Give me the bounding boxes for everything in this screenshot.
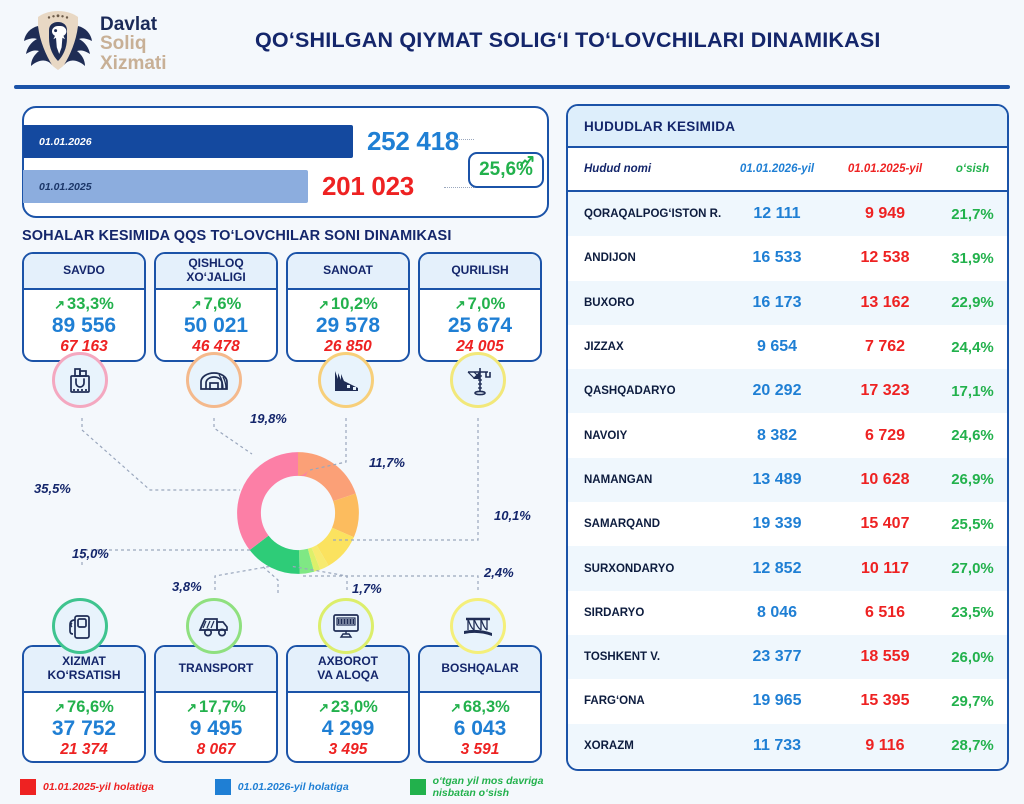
regions-table-body: QORAQALPOG‘ISTON R.12 1119 94921,7%ANDIJ… — [568, 192, 1007, 771]
sector-value-2026: 25 674 — [420, 314, 540, 338]
sector-growth: ↗33,3% — [24, 295, 144, 314]
legend-swatch-blue — [215, 779, 231, 795]
table-row[interactable]: SURXONDARYO12 85210 11727,0% — [568, 546, 1007, 590]
cell-2026: 16 533 — [723, 249, 831, 267]
shopping-bag-icon — [64, 364, 96, 396]
cell-2025: 15 395 — [831, 692, 939, 710]
sector-name: TRANSPORT — [179, 662, 254, 676]
cell-growth: 24,6% — [939, 427, 1006, 444]
legend-item-2025: 01.01.2025-yil holatiga — [20, 779, 215, 795]
donut-label-qishloq: 19,8% — [250, 411, 287, 426]
sector-icon-bubble-axborot — [318, 598, 374, 654]
bar-2026: 01.01.2026 — [23, 125, 353, 158]
donut-label-axborot: 1,7% — [352, 581, 382, 596]
cell-2025: 10 628 — [831, 471, 939, 489]
donut-label-transport: 3,8% — [172, 579, 202, 594]
bar-2026-value: 252 418 — [367, 126, 459, 157]
table-row[interactable]: QORAQALPOG‘ISTON R.12 1119 94921,7% — [568, 192, 1007, 236]
table-row[interactable]: XORAZM11 7339 11628,7% — [568, 724, 1007, 768]
cell-2025: 6 729 — [831, 427, 939, 445]
cell-region: FARG‘ONA — [568, 695, 723, 707]
regions-table-panel: HUDUDLAR KESIMIDA Hudud nomi 01.01.2026-… — [566, 104, 1009, 771]
cell-growth: 27,0% — [939, 560, 1006, 577]
cell-region: NAVOIY — [568, 430, 723, 442]
sector-card-body: ↗17,7% 9 495 8 067 — [156, 693, 276, 765]
logo-line-1: Davlat — [100, 15, 167, 34]
sector-name: SAVDO — [63, 264, 105, 278]
sector-value-2025: 21 374 — [24, 741, 144, 760]
cell-region: QASHQADARYO — [568, 385, 723, 397]
sector-growth: ↗76,6% — [24, 698, 144, 717]
cell-growth: 26,9% — [939, 471, 1006, 488]
sector-card-axborot-va-aloqa[interactable]: AXBOROT VA ALOQA ↗23,0% 4 299 3 495 — [286, 645, 410, 763]
sector-card-sanoat[interactable]: SANOAT ↗10,2% 29 578 26 850 — [286, 252, 410, 362]
sector-card-header: QURILISH — [420, 254, 540, 290]
fuel-pump-icon — [65, 610, 95, 642]
sectors-heading: SOHALAR KESIMIDA QQS TO‘LOVCHILAR SONI D… — [22, 228, 451, 244]
sector-card-xizmat-korsatish[interactable]: XIZMAT KO‘RSATISH ↗76,6% 37 752 21 374 — [22, 645, 146, 763]
donut-label-sanoat: 11,7% — [369, 455, 405, 470]
monitor-icon — [330, 611, 362, 641]
cell-2025: 9 949 — [831, 205, 939, 223]
connector-line-bottom — [444, 187, 474, 188]
cell-2026: 20 292 — [723, 382, 831, 400]
sector-value-2025: 3 591 — [420, 741, 540, 760]
sector-growth: ↗17,7% — [156, 698, 276, 717]
cell-2026: 8 382 — [723, 427, 831, 445]
sector-growth: ↗68,3% — [420, 698, 540, 717]
sector-icon-bubble-qishloq — [186, 352, 242, 408]
cell-2026: 12 852 — [723, 560, 831, 578]
cell-growth: 17,1% — [939, 383, 1006, 400]
header-divider — [14, 85, 1010, 89]
sector-value-2026: 29 578 — [288, 314, 408, 338]
legend-swatch-green — [410, 779, 426, 795]
table-row[interactable]: NAVOIY8 3826 72924,6% — [568, 413, 1007, 457]
page-title: QO‘SHILGAN QIYMAT SOLIG‘I TO‘LOVCHILARI … — [255, 28, 995, 53]
bar-2025-value: 201 023 — [322, 171, 414, 202]
cell-2026: 19 339 — [723, 515, 831, 533]
regions-table-title-text: HUDUDLAR KESIMIDA — [584, 119, 735, 134]
legend-label-2026: 01.01.2026-yil holatiga — [238, 781, 349, 793]
sector-name: QURILISH — [451, 264, 508, 278]
cell-2026: 8 046 — [723, 604, 831, 622]
sector-name: BOSHQALAR — [441, 662, 518, 676]
table-column-header-row: Hudud nomi 01.01.2026-yil 01.01.2025-yil… — [568, 148, 1007, 192]
sector-icon-bubble-transport — [186, 598, 242, 654]
cell-growth: 24,4% — [939, 339, 1006, 356]
cell-growth: 31,9% — [939, 250, 1006, 267]
sector-value-2025: 8 067 — [156, 741, 276, 760]
warehouse-icon — [197, 365, 231, 395]
cell-2025: 13 162 — [831, 294, 939, 312]
legend: 01.01.2025-yil holatiga 01.01.2026-yil h… — [20, 773, 580, 801]
sector-value-2026: 37 752 — [24, 717, 144, 741]
cell-region: TOSHKENT V. — [568, 651, 723, 663]
table-row[interactable]: JIZZAX9 6547 76224,4% — [568, 325, 1007, 369]
logo: Davlat Soliq Xizmati — [22, 6, 202, 80]
cell-growth: 29,7% — [939, 693, 1006, 710]
legend-label-growth: o‘tgan yil mos davriga nisbatan o‘sish — [433, 775, 544, 800]
bar-2026-label: 01.01.2026 — [23, 136, 92, 148]
sector-card-header: QISHLOQ XO‘JALIGI — [156, 254, 276, 290]
cell-2026: 16 173 — [723, 294, 831, 312]
sector-card-boshqalar[interactable]: BOSHQALAR ↗68,3% 6 043 3 591 — [418, 645, 542, 763]
table-row[interactable]: QASHQADARYO20 29217 32317,1% — [568, 369, 1007, 413]
sector-name: SANOAT — [323, 264, 373, 278]
cell-2025: 12 538 — [831, 249, 939, 267]
bar-2025: 01.01.2025 — [23, 170, 308, 203]
donut-label-savdo: 35,5% — [34, 481, 71, 496]
legend-item-growth: o‘tgan yil mos davriga nisbatan o‘sish — [410, 775, 580, 800]
cell-region: SURXONDARYO — [568, 563, 723, 575]
sector-card-savdo[interactable]: SAVDO ↗33,3% 89 556 67 163 — [22, 252, 146, 362]
table-row[interactable]: SIRDARYO8 0466 51623,5% — [568, 591, 1007, 635]
cell-growth: 22,9% — [939, 294, 1006, 311]
cell-2026: 19 965 — [723, 692, 831, 710]
legend-item-2026: 01.01.2026-yil holatiga — [215, 779, 410, 795]
cell-growth: 23,5% — [939, 604, 1006, 621]
sector-card-body: ↗76,6% 37 752 21 374 — [24, 693, 144, 765]
cell-region: JIZZAX — [568, 341, 723, 353]
cell-region: SAMARQAND — [568, 518, 723, 530]
legend-label-2025: 01.01.2025-yil holatiga — [43, 781, 154, 793]
cell-growth: 28,7% — [939, 737, 1006, 754]
sector-card-body: ↗33,3% 89 556 67 163 — [24, 290, 144, 362]
regions-table-title: HUDUDLAR KESIMIDA — [568, 106, 1007, 148]
cell-2025: 17 323 — [831, 382, 939, 400]
donut-svg — [228, 443, 368, 583]
cell-growth: 26,0% — [939, 649, 1006, 666]
cell-2026: 23 377 — [723, 648, 831, 666]
col-header-region: Hudud nomi — [568, 163, 723, 175]
sector-value-2025: 3 495 — [288, 741, 408, 760]
col-header-growth: o‘sish — [939, 163, 1006, 175]
factory-icon — [330, 365, 362, 395]
logo-line-2: Soliq — [100, 34, 167, 53]
cell-2025: 7 762 — [831, 338, 939, 356]
sector-icon-bubble-qurilish — [450, 352, 506, 408]
sector-growth: ↗7,6% — [156, 295, 276, 314]
sector-growth: ↗23,0% — [288, 698, 408, 717]
infographic-page: Davlat Soliq Xizmati QO‘SHILGAN QIYMAT S… — [0, 0, 1024, 804]
sector-icon-bubble-xizmat — [52, 598, 108, 654]
cell-growth: 25,5% — [939, 516, 1006, 533]
sector-icon-bubble-boshqalar — [450, 598, 506, 654]
cell-region: BUXORO — [568, 297, 723, 309]
sector-card-body: ↗68,3% 6 043 3 591 — [420, 693, 540, 765]
sector-value-2026: 50 021 — [156, 314, 276, 338]
cell-2026: 12 111 — [723, 205, 831, 223]
cell-2025: 15 407 — [831, 515, 939, 533]
sector-share-donut-chart — [228, 443, 368, 583]
table-row[interactable]: ANDIJON16 53312 53831,9% — [568, 236, 1007, 280]
donut-label-qurilish: 10,1% — [494, 508, 531, 523]
table-row[interactable]: FARG‘ONA19 96515 39529,7% — [568, 679, 1007, 723]
sector-card-header: SAVDO — [24, 254, 144, 290]
connector-line-top — [448, 139, 474, 140]
bar-2025-label: 01.01.2025 — [23, 181, 92, 193]
table-row[interactable]: TOSHKENT SH.60 47247 82226,5% — [568, 768, 1007, 771]
eagle-emblem-icon — [22, 8, 94, 78]
cell-2025: 6 516 — [831, 604, 939, 622]
col-header-2026: 01.01.2026-yil — [723, 163, 831, 175]
cell-region: SIRDARYO — [568, 607, 723, 619]
table-row[interactable]: NAMANGAN13 48910 62826,9% — [568, 458, 1007, 502]
sector-name: QISHLOQ XO‘JALIGI — [186, 257, 245, 285]
summary-bar-card: 01.01.2026 252 418 01.01.2025 201 023 25… — [22, 106, 549, 218]
cell-growth: 21,7% — [939, 206, 1006, 223]
col-header-2025: 01.01.2025-yil — [831, 163, 939, 175]
table-row[interactable]: SAMARQAND19 33915 40725,5% — [568, 502, 1007, 546]
sector-value-2026: 89 556 — [24, 314, 144, 338]
crane-icon — [462, 364, 494, 396]
cell-2026: 9 654 — [723, 338, 831, 356]
cell-2025: 9 116 — [831, 737, 939, 755]
sector-card-transport[interactable]: TRANSPORT ↗17,7% 9 495 8 067 — [154, 645, 278, 763]
sector-card-header: SANOAT — [288, 254, 408, 290]
cell-2025: 18 559 — [831, 648, 939, 666]
sector-icon-bubble-sanoat — [318, 352, 374, 408]
cell-region: ANDIJON — [568, 252, 723, 264]
cell-2026: 11 733 — [723, 737, 831, 755]
sector-growth: ↗7,0% — [420, 295, 540, 314]
cell-2025: 10 117 — [831, 560, 939, 578]
truck-icon — [197, 613, 231, 639]
table-row[interactable]: TOSHKENT V.23 37718 55926,0% — [568, 635, 1007, 679]
sector-card-qurilish[interactable]: QURILISH ↗7,0% 25 674 24 005 — [418, 252, 542, 362]
cell-region: QORAQALPOG‘ISTON R. — [568, 208, 723, 220]
donut-label-xizmat: 15,0% — [72, 546, 109, 561]
trend-up-arrow-icon — [520, 155, 534, 167]
cell-region: XORAZM — [568, 740, 723, 752]
sector-name: XIZMAT KO‘RSATISH — [47, 655, 120, 683]
sector-icon-bubble-savdo — [52, 352, 108, 408]
growth-badge: 25,6% — [468, 152, 544, 188]
bridge-icon — [461, 612, 495, 640]
sector-value-2026: 6 043 — [420, 717, 540, 741]
table-row[interactable]: BUXORO16 17313 16222,9% — [568, 281, 1007, 325]
sector-name: AXBOROT VA ALOQA — [317, 655, 379, 683]
donut-label-boshqalar: 2,4% — [484, 565, 514, 580]
sector-card-body: ↗23,0% 4 299 3 495 — [288, 693, 408, 765]
legend-swatch-red — [20, 779, 36, 795]
sector-value-2026: 4 299 — [288, 717, 408, 741]
page-header: Davlat Soliq Xizmati QO‘SHILGAN QIYMAT S… — [0, 0, 1024, 86]
cell-2026: 13 489 — [723, 471, 831, 489]
cell-region: NAMANGAN — [568, 474, 723, 486]
sector-card-header: XIZMAT KO‘RSATISH — [24, 647, 144, 693]
sector-growth: ↗10,2% — [288, 295, 408, 314]
sector-card-qishloq-xojaligi[interactable]: QISHLOQ XO‘JALIGI ↗7,6% 50 021 46 478 — [154, 252, 278, 362]
logo-line-3: Xizmati — [100, 54, 167, 73]
sector-value-2026: 9 495 — [156, 717, 276, 741]
